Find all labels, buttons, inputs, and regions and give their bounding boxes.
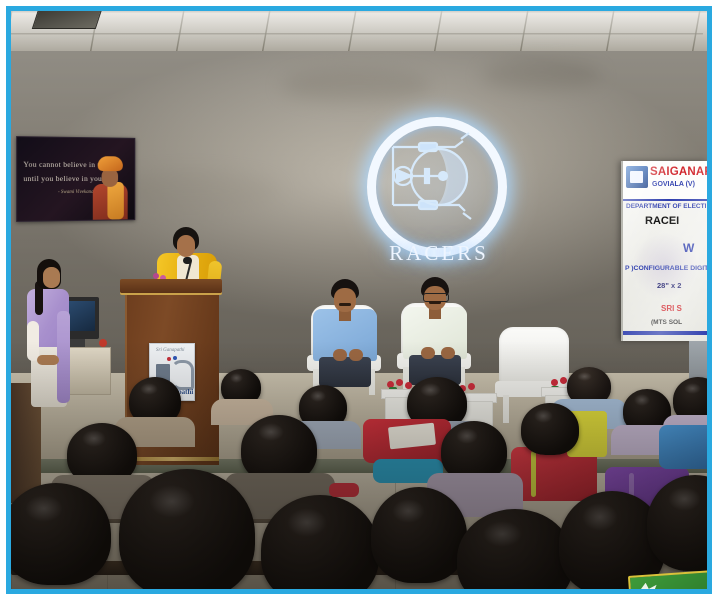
ceiling-shading [11,11,707,53]
swami-portrait [92,154,129,220]
ac-vent-icon [32,11,102,29]
projected-racers-logo: RACERS [359,109,519,269]
plaque-dot-red [167,357,171,361]
false-ceiling [11,11,707,55]
plaque-script: Sri Ganapathi [156,348,184,353]
podium-top [120,279,222,293]
vivekananda-quote-poster: You cannot believe in God until you beli… [16,136,135,222]
student-audience [11,363,707,589]
photo-frame: RACERS You cannot believe in God until y… [0,0,718,600]
red-button-icon [99,339,107,347]
leaf-logo-icon [638,582,657,589]
banner-plastic-sheen [623,161,707,341]
event-flex-banner: SAIGANAP GOVIALA (V) DEPARTMENT OF ELECT… [621,161,707,341]
microphone-icon [183,257,192,264]
seminar-hall-scene: RACERS You cannot believe in God until y… [11,11,707,589]
photo-blue-border: RACERS You cannot believe in God until y… [6,6,712,594]
circuit-emblem-icon [367,117,489,239]
plaque-dot-blue [173,356,177,360]
racers-wordmark: RACERS [359,241,519,266]
